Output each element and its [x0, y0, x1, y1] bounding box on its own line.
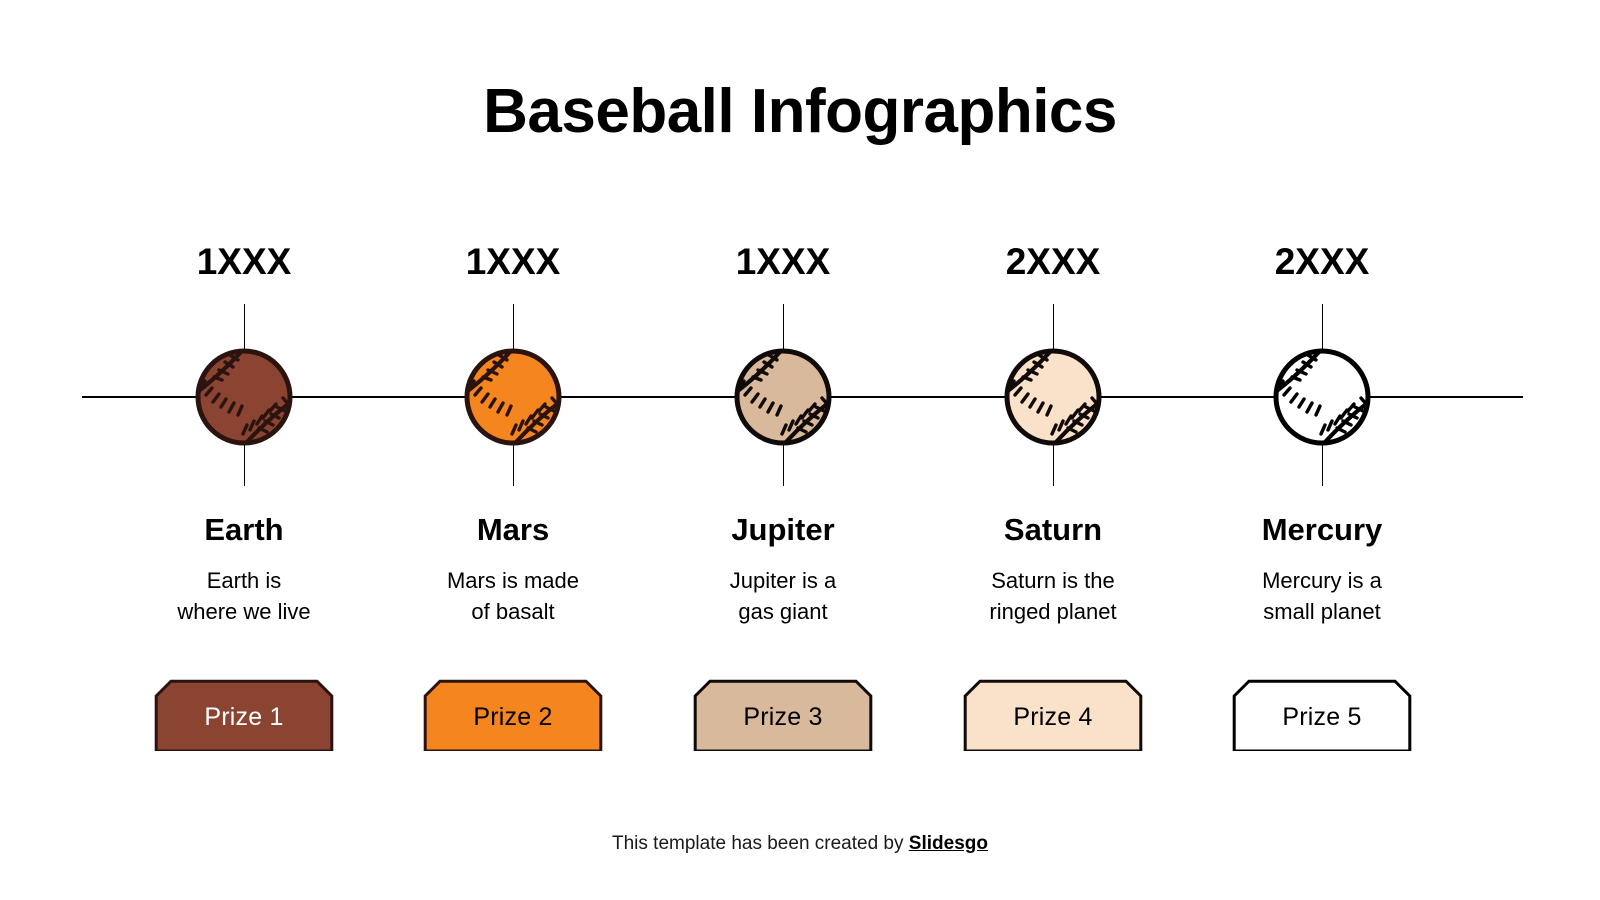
baseball-icon [413, 347, 613, 447]
planet-description: Mercury is a small planet [1182, 565, 1462, 627]
baseball-icon [683, 347, 883, 447]
timeline-year-label: 1XXX [124, 241, 364, 283]
prize-tag-label: Prize 1 [154, 679, 334, 751]
prize-tag-label: Prize 3 [693, 679, 873, 751]
planet-name: Jupiter [643, 512, 923, 548]
baseball-svg [462, 346, 564, 448]
prize-tag[interactable]: Prize 3 [693, 679, 873, 751]
planet-description: Earth is where we live [104, 565, 384, 627]
timeline-year-label: 1XXX [393, 241, 633, 283]
prize-tag-label: Prize 4 [963, 679, 1143, 751]
planet-name: Earth [104, 512, 384, 548]
planet-name: Saturn [913, 512, 1193, 548]
footer-credit-text: This template has been created by [612, 833, 909, 854]
baseball-svg [1271, 346, 1373, 448]
prize-tag[interactable]: Prize 2 [423, 679, 603, 751]
planet-description: Mars is made of basalt [373, 565, 653, 627]
timeline-column: 1XXX Earth Earth is where we live Prize … [124, 0, 364, 900]
timeline-year-label: 2XXX [933, 241, 1173, 283]
timeline-column: 1XXX Jupiter Jupiter is a gas giant Priz… [663, 0, 903, 900]
prize-tag-label: Prize 2 [423, 679, 603, 751]
baseball-icon [144, 347, 344, 447]
planet-description: Jupiter is a gas giant [643, 565, 923, 627]
baseball-svg [1002, 346, 1104, 448]
baseball-svg [193, 346, 295, 448]
timeline-column: 1XXX Mars Mars is made of basalt Prize 2 [393, 0, 633, 900]
baseball-svg [732, 346, 834, 448]
prize-tag[interactable]: Prize 1 [154, 679, 334, 751]
baseball-icon [953, 347, 1153, 447]
planet-name: Mars [373, 512, 653, 548]
planet-description: Saturn is the ringed planet [913, 565, 1193, 627]
timeline-column: 2XXX Mercury Mercury is a small planet P… [1202, 0, 1442, 900]
timeline-column: 2XXX Saturn Saturn is the ringed planet … [933, 0, 1173, 900]
prize-tag[interactable]: Prize 5 [1232, 679, 1412, 751]
slide-canvas: Baseball Infographics 1XXX Earth Earth i… [0, 0, 1600, 900]
timeline-year-label: 2XXX [1202, 241, 1442, 283]
timeline-year-label: 1XXX [663, 241, 903, 283]
footer-credit: This template has been created by Slides… [0, 833, 1600, 855]
planet-name: Mercury [1182, 512, 1462, 548]
baseball-icon [1222, 347, 1422, 447]
prize-tag-label: Prize 5 [1232, 679, 1412, 751]
slidesgo-link[interactable]: Slidesgo [909, 833, 988, 854]
prize-tag[interactable]: Prize 4 [963, 679, 1143, 751]
